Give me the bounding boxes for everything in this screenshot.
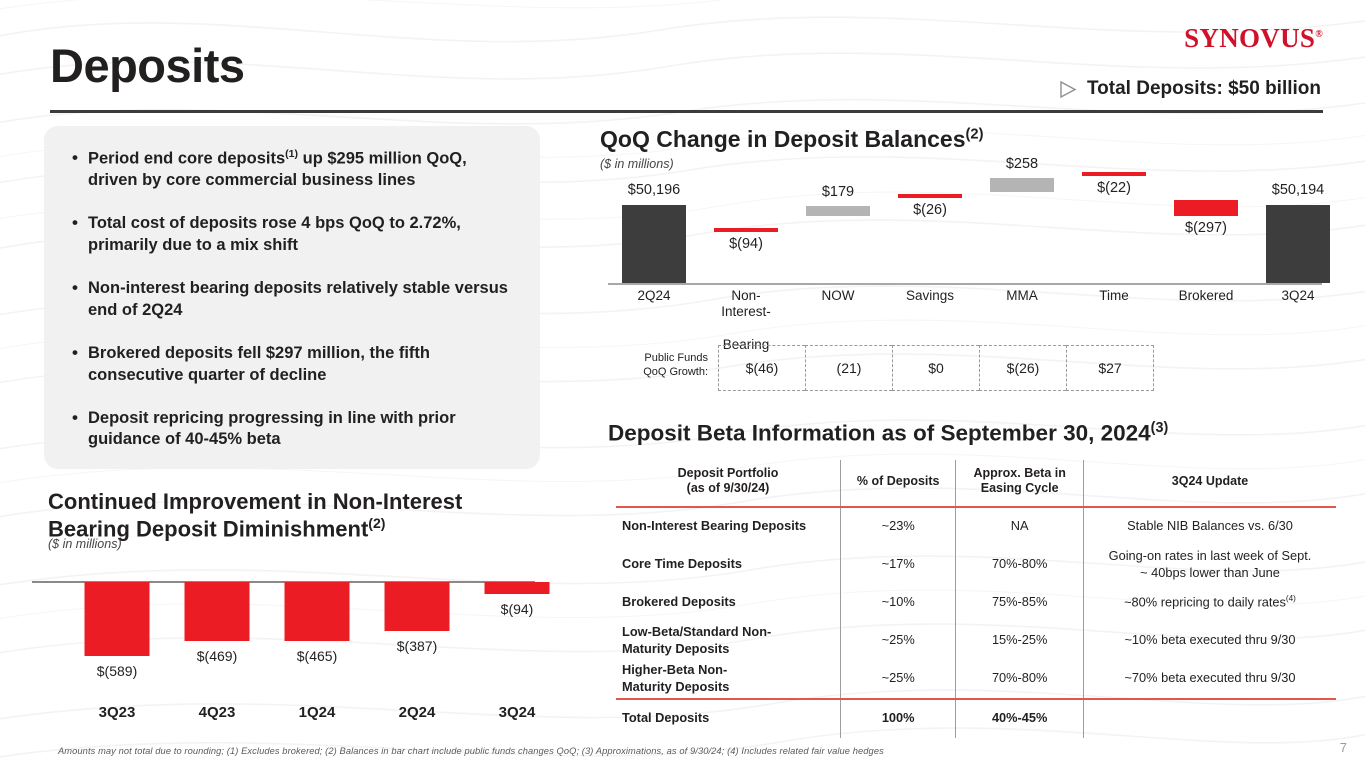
waterfall-category-label: Non-Interest-Bearing (700, 288, 792, 354)
cell-approx-beta: NA (956, 507, 1084, 546)
public-funds-label-line1: Public Funds (600, 351, 708, 365)
waterfall-units: ($ in millions) (600, 157, 674, 171)
waterfall-bar-value: $(94) (729, 236, 763, 252)
public-funds-label-line2: QoQ Growth: (600, 365, 708, 379)
cell-3q24-update: Going-on rates in last week of Sept.~ 40… (1084, 546, 1337, 584)
total-deposits-tagline: Total Deposits: $50 billion (1059, 78, 1321, 100)
public-funds-cell: $(46) (718, 345, 805, 391)
nib-bar (385, 582, 450, 631)
nib-bar-value: $(387) (397, 638, 437, 654)
page-title: Deposits (50, 42, 245, 89)
waterfall-bar-group: $(297) (1160, 172, 1252, 284)
nib-bar (185, 582, 250, 641)
nib-category-label: 2Q24 (399, 704, 436, 721)
waterfall-bar-group: $179 (792, 172, 884, 284)
nib-category-label: 3Q24 (499, 704, 536, 721)
waterfall-bar-value: $179 (822, 184, 854, 200)
cell-pct-of-deposits: ~17% (841, 546, 956, 584)
table-row: Brokered Deposits~10%75%-85%~80% reprici… (616, 584, 1336, 622)
waterfall-title: QoQ Change in Deposit Balances(2) (600, 126, 984, 153)
waterfall-bar-group: $(94) (700, 172, 792, 284)
waterfall-bar-group: $258 (976, 172, 1068, 284)
list-item: Non-interest bearing deposits relatively… (88, 278, 514, 321)
waterfall-bar (990, 178, 1054, 192)
table-row: Higher-Beta Non-Maturity Deposits~25%70%… (616, 660, 1336, 699)
nib-category-label: 1Q24 (299, 704, 336, 721)
nib-bar-group: $(94)3Q24 (467, 560, 567, 735)
nib-diminishment-chart: $(589)3Q23$(469)4Q23$(465)1Q24$(387)2Q24… (32, 560, 552, 735)
public-funds-label: Public Funds QoQ Growth: (600, 351, 708, 380)
cell-3q24-update: ~10% beta executed thru 9/30 (1084, 622, 1337, 660)
cell-pct-of-deposits: ~25% (841, 660, 956, 699)
registered-trademark-icon: ® (1315, 29, 1323, 40)
waterfall-bar-group: $(26) (884, 172, 976, 284)
play-triangle-icon (1059, 80, 1077, 99)
cell-approx-beta: 70%-80% (956, 660, 1084, 699)
waterfall-category-labels: 2Q24Non-Interest-BearingNOWSavingsMMATim… (600, 288, 1340, 348)
table-row: Non-Interest Bearing Deposits~23%NAStabl… (616, 507, 1336, 546)
cell-3q24-update: ~70% beta executed thru 9/30 (1084, 660, 1337, 699)
nib-bar-value: $(469) (197, 648, 237, 664)
cell-portfolio-name: Total Deposits (616, 699, 841, 738)
col-pct-of-deposits: % of Deposits (841, 460, 956, 507)
table-body: Non-Interest Bearing Deposits~23%NAStabl… (616, 507, 1336, 738)
waterfall-bar (1266, 205, 1330, 283)
nib-bar-group: $(387)2Q24 (367, 560, 467, 735)
list-item: Deposit repricing progressing in line wi… (88, 408, 514, 451)
highlights-list: Period end core deposits(1) up $295 mill… (70, 148, 514, 451)
public-funds-cells: $(46)(21)$0$(26)$27 (718, 345, 1154, 391)
nib-category-label: 3Q23 (99, 704, 136, 721)
nib-bar-value: $(465) (297, 648, 337, 664)
waterfall-category-label: 2Q24 (608, 288, 700, 304)
cell-approx-beta: 75%-85% (956, 584, 1084, 622)
waterfall-category-label: 3Q24 (1252, 288, 1344, 304)
total-deposits-text: Total Deposits: $50 billion (1087, 78, 1321, 100)
waterfall-bar-value: $50,196 (628, 182, 680, 198)
list-item: Total cost of deposits rose 4 bps QoQ to… (88, 213, 514, 256)
cell-approx-beta: 70%-80% (956, 546, 1084, 584)
table-row-total: Total Deposits100%40%-45% (616, 699, 1336, 738)
page-number: 7 (1340, 740, 1347, 755)
synovus-logo: SYNOVUS® (1184, 25, 1323, 52)
key-highlights-panel: Period end core deposits(1) up $295 mill… (44, 126, 540, 469)
table-row: Core Time Deposits~17%70%-80%Going-on ra… (616, 546, 1336, 584)
waterfall-bar-value: $258 (1006, 156, 1038, 172)
waterfall-bar-value: $(297) (1185, 220, 1227, 236)
public-funds-cell: $(26) (979, 345, 1066, 391)
qoq-waterfall-chart: $50,196$(94)$179$(26)$258$(22)$(297)$50,… (600, 172, 1340, 292)
cell-pct-of-deposits: ~23% (841, 507, 956, 546)
cell-portfolio-name: Brokered Deposits (616, 584, 841, 622)
cell-3q24-update (1084, 699, 1337, 738)
waterfall-category-label: NOW (792, 288, 884, 304)
deposit-beta-table: Deposit Portfolio(as of 9/30/24) % of De… (616, 460, 1336, 738)
nib-bar-group: $(465)1Q24 (267, 560, 367, 735)
cell-approx-beta: 40%-45% (956, 699, 1084, 738)
nib-bar (485, 582, 550, 594)
list-item: Period end core deposits(1) up $295 mill… (88, 148, 514, 191)
cell-portfolio-name: Higher-Beta Non-Maturity Deposits (616, 660, 841, 699)
nib-chart-title: Continued Improvement in Non-Interest Be… (48, 489, 548, 542)
public-funds-strip: Public Funds QoQ Growth: $(46)(21)$0$(26… (600, 345, 1340, 393)
public-funds-cell: $0 (892, 345, 979, 391)
waterfall-bar-value: $(22) (1097, 180, 1131, 196)
footnote: Amounts may not total due to rounding; (… (58, 746, 884, 756)
nib-bar (85, 582, 150, 656)
waterfall-category-label: MMA (976, 288, 1068, 304)
table-row: Low-Beta/Standard Non-Maturity Deposits~… (616, 622, 1336, 660)
cell-portfolio-name: Core Time Deposits (616, 546, 841, 584)
waterfall-category-label: Savings (884, 288, 976, 304)
table-header-row: Deposit Portfolio(as of 9/30/24) % of De… (616, 460, 1336, 507)
cell-3q24-update: Stable NIB Balances vs. 6/30 (1084, 507, 1337, 546)
table-header: Deposit Portfolio(as of 9/30/24) % of De… (616, 460, 1336, 507)
waterfall-category-label: Brokered (1160, 288, 1252, 304)
waterfall-category-label: Time (1068, 288, 1160, 304)
waterfall-bar-group: $50,194 (1252, 172, 1344, 284)
waterfall-bar (898, 194, 962, 198)
col-approx-beta: Approx. Beta inEasing Cycle (956, 460, 1084, 507)
waterfall-bar (1082, 172, 1146, 176)
cell-portfolio-name: Low-Beta/Standard Non-Maturity Deposits (616, 622, 841, 660)
cell-3q24-update: ~80% repricing to daily rates(4) (1084, 584, 1337, 622)
nib-bar-group: $(589)3Q23 (67, 560, 167, 735)
col-deposit-portfolio: Deposit Portfolio(as of 9/30/24) (616, 460, 841, 507)
nib-bar-group: $(469)4Q23 (167, 560, 267, 735)
cell-pct-of-deposits: ~10% (841, 584, 956, 622)
cell-pct-of-deposits: ~25% (841, 622, 956, 660)
public-funds-cell: (21) (805, 345, 892, 391)
waterfall-bar (1174, 200, 1238, 216)
public-funds-cell: $27 (1066, 345, 1154, 391)
waterfall-bar (806, 206, 870, 216)
waterfall-bar-value: $(26) (913, 202, 947, 218)
cell-portfolio-name: Non-Interest Bearing Deposits (616, 507, 841, 546)
cell-pct-of-deposits: 100% (841, 699, 956, 738)
header-divider (50, 110, 1323, 113)
nib-category-label: 4Q23 (199, 704, 236, 721)
nib-bar (285, 582, 350, 641)
waterfall-bar-group: $(22) (1068, 172, 1160, 284)
col-3q24-update: 3Q24 Update (1084, 460, 1337, 507)
waterfall-bar-value: $50,194 (1272, 182, 1324, 198)
beta-section-title: Deposit Beta Information as of September… (608, 420, 1168, 447)
nib-bar-value: $(94) (501, 601, 534, 617)
cell-approx-beta: 15%-25% (956, 622, 1084, 660)
waterfall-bar (714, 228, 778, 232)
waterfall-bar (622, 205, 686, 283)
nib-chart-units: ($ in millions) (48, 537, 122, 551)
list-item: Brokered deposits fell $297 million, the… (88, 343, 514, 386)
brand-wordmark: SYNOVUS (1184, 23, 1315, 53)
waterfall-bar-group: $50,196 (608, 172, 700, 284)
nib-bar-value: $(589) (97, 663, 137, 679)
